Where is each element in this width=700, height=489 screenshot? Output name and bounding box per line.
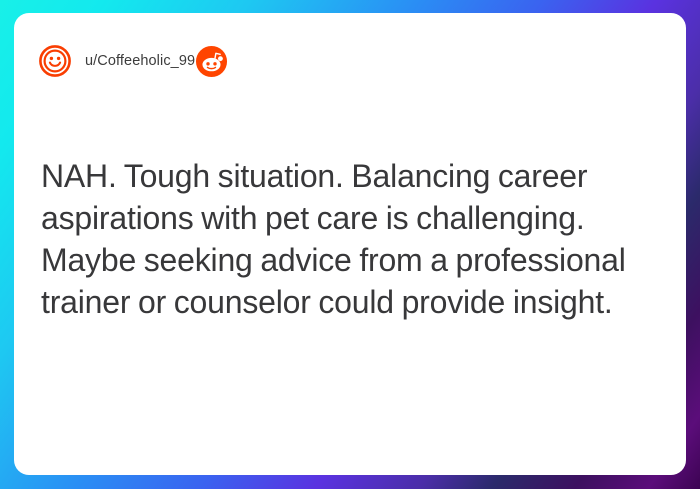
reddit-snoo-icon (195, 45, 228, 78)
reddit-brand-link[interactable] (195, 45, 228, 78)
gradient-background: u/Coffeeholic_99 NAH. Tough situation. B… (0, 0, 700, 489)
username-label: u/Coffeeholic_99 (85, 53, 195, 69)
smiley-face-icon (38, 44, 72, 78)
post-header: u/Coffeeholic_99 (38, 39, 664, 83)
avatar[interactable] (38, 44, 72, 78)
reddit-post-card: u/Coffeeholic_99 NAH. Tough situation. B… (14, 13, 686, 475)
post-body-text: NAH. Tough situation. Balancing career a… (41, 155, 662, 323)
